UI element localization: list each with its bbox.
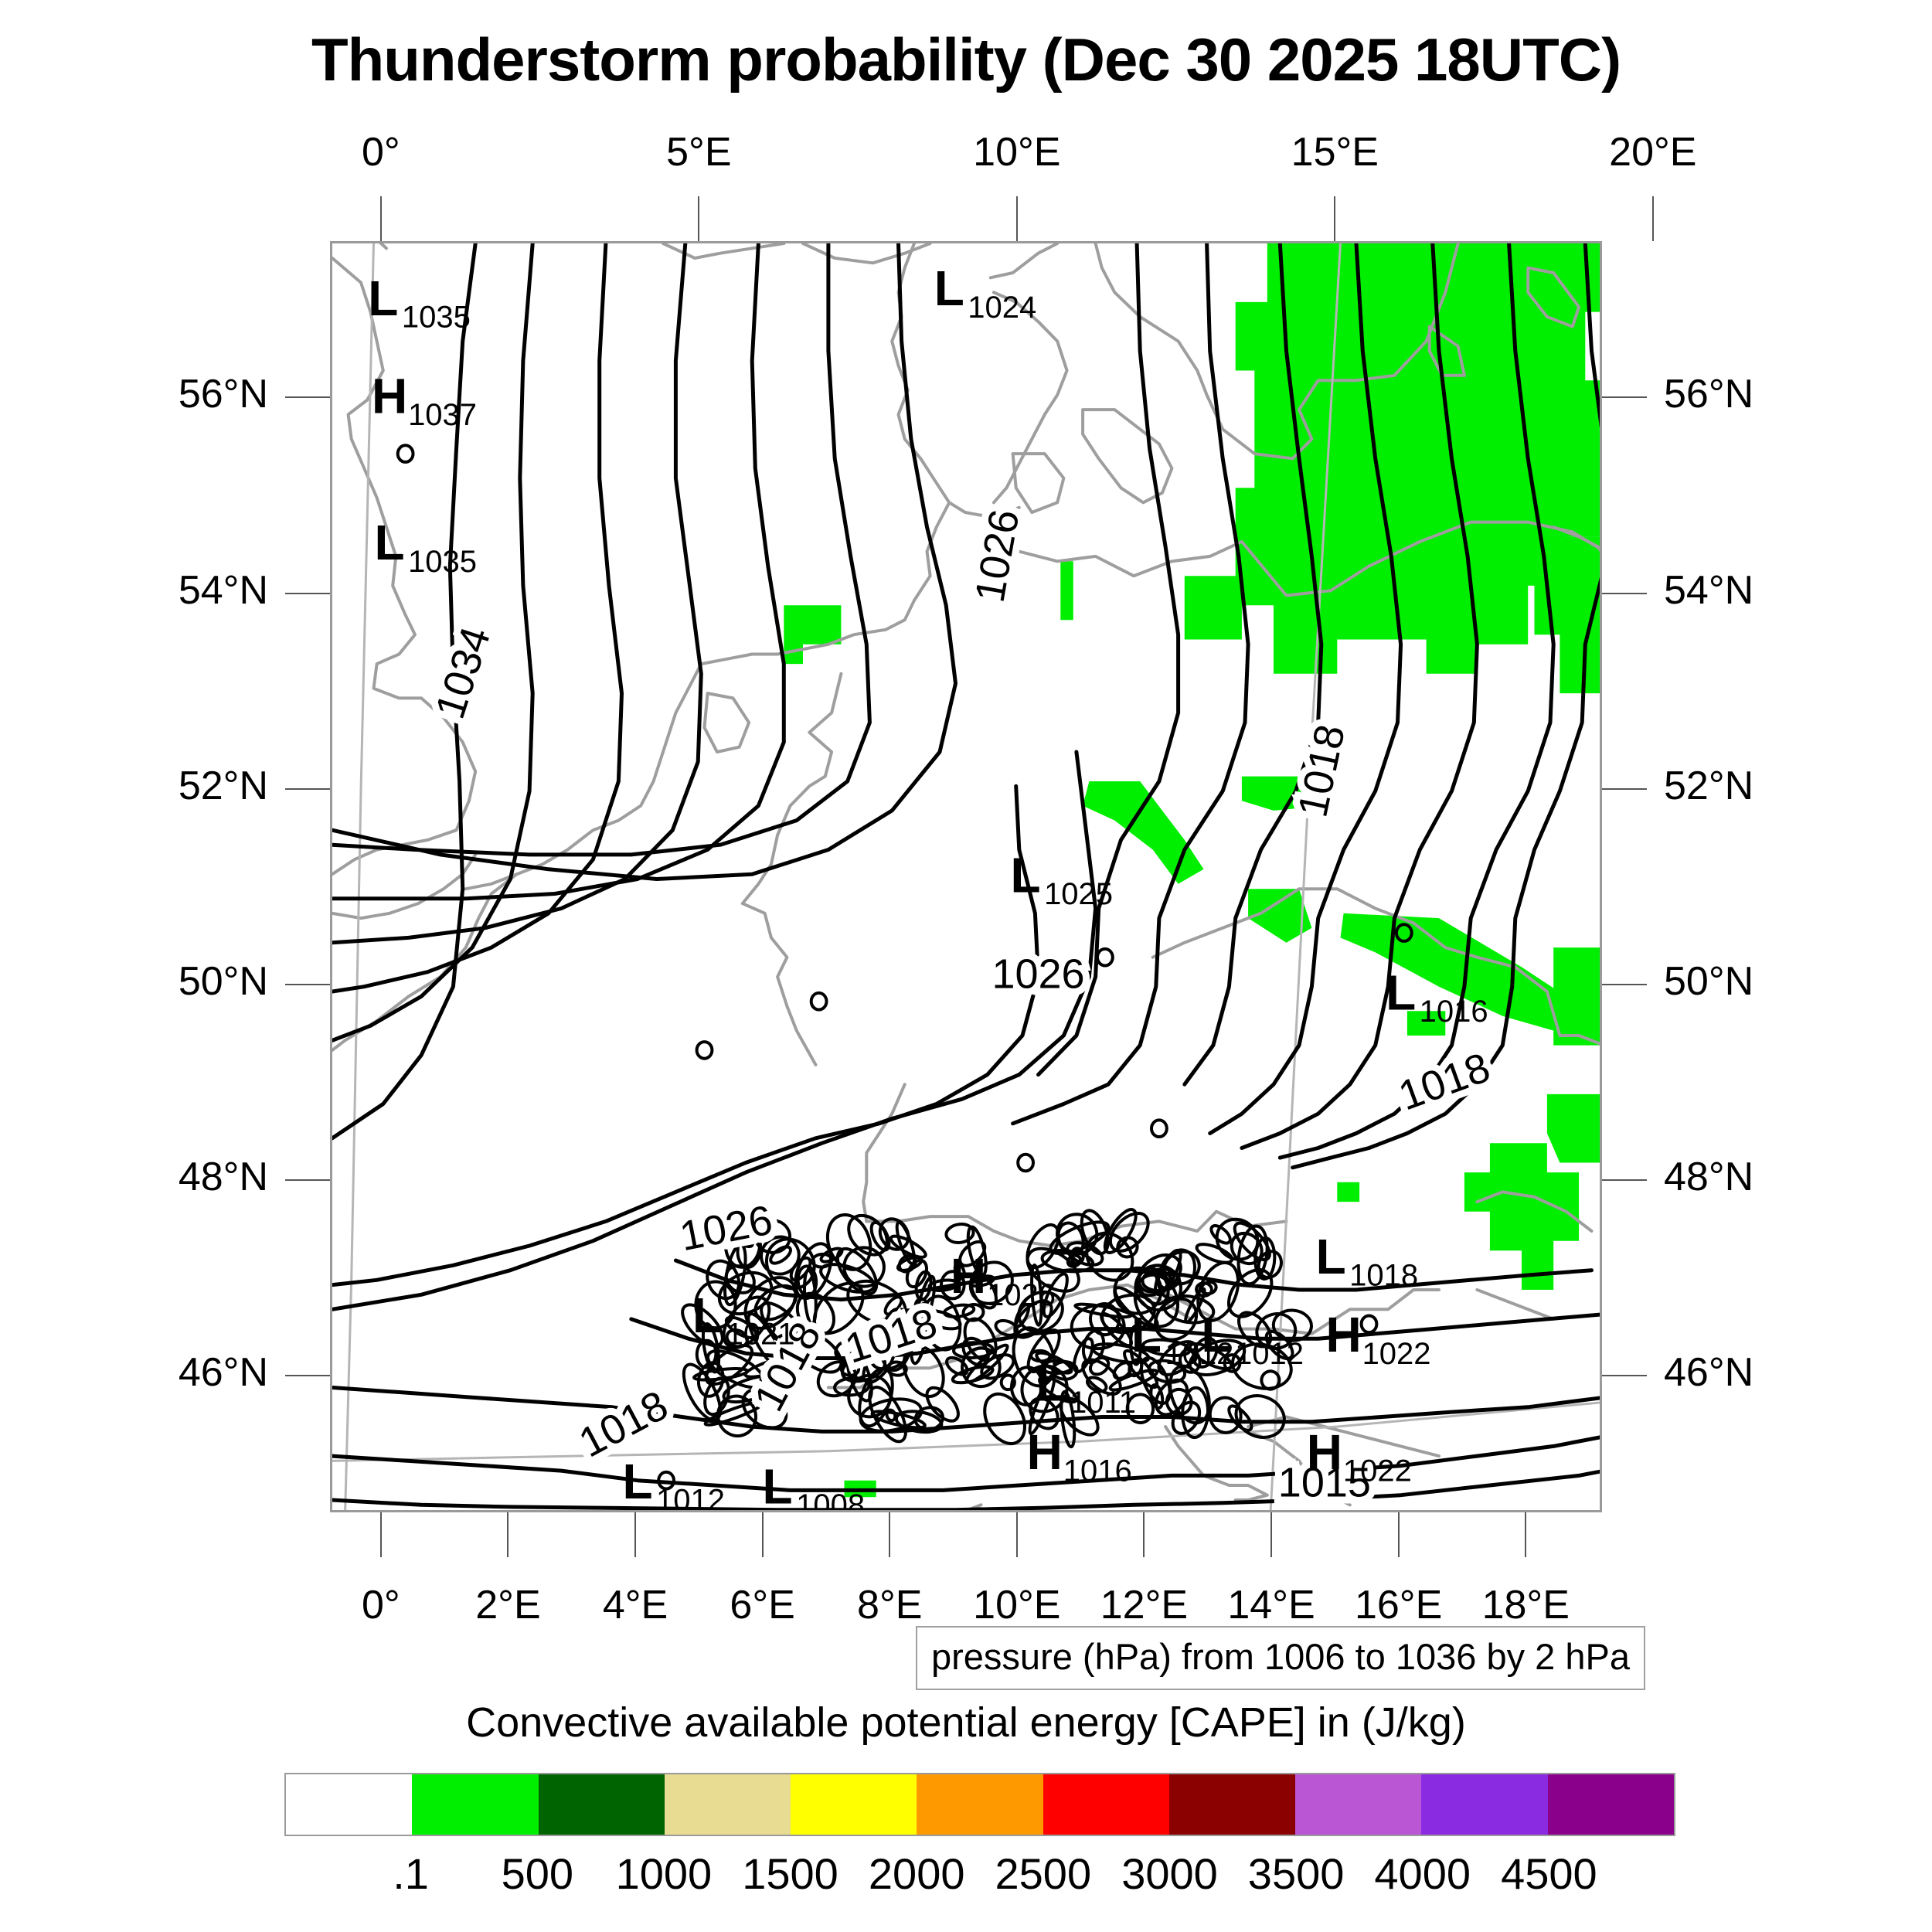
contour-value-label: 1018	[1289, 721, 1354, 821]
pressure-isobar	[332, 243, 784, 899]
pressure-isobar-closed	[1097, 949, 1113, 966]
pressure-low-marker: L	[1386, 964, 1416, 1020]
pressure-low-marker: L	[1201, 1307, 1231, 1362]
top-axis-tick	[380, 196, 382, 241]
bottom-axis-label: 18°E	[1425, 1582, 1626, 1628]
pressure-low-marker: L	[622, 1454, 652, 1509]
pressure-center-value: 1025	[1044, 877, 1113, 911]
coastline	[863, 1084, 905, 1221]
cape-patch	[1337, 1182, 1359, 1202]
colorbar-segment	[1295, 1774, 1421, 1835]
bottom-axis-tick	[889, 1512, 890, 1557]
pressure-high-marker: H	[951, 1248, 986, 1304]
bottom-axis-tick	[1398, 1512, 1400, 1557]
pressure-center-value: 1022	[1343, 1454, 1412, 1488]
top-axis-label: 5°E	[598, 129, 799, 175]
cape-patch	[1547, 1094, 1602, 1163]
colorbar-segment	[791, 1774, 917, 1835]
colorbar-segment	[917, 1774, 1043, 1835]
bottom-axis-tick	[380, 1512, 382, 1557]
left-axis-label: 46°N	[0, 1349, 268, 1396]
pressure-isobar-closed	[1230, 1389, 1291, 1444]
pressure-low-marker: L	[934, 260, 964, 316]
colorbar-segment	[1169, 1774, 1295, 1835]
pressure-isobar-closed	[1018, 1155, 1033, 1172]
left-axis-label: 56°N	[0, 371, 268, 417]
cape-patch	[784, 605, 841, 664]
pressure-isobar-closed	[886, 1409, 896, 1422]
colorbar-tick-label: 1500	[742, 1849, 838, 1899]
pressure-low-marker: L	[368, 270, 398, 326]
pressure-center-value: 1012	[1235, 1337, 1304, 1371]
coastline	[705, 693, 750, 752]
pressure-center-value: 1016	[1063, 1454, 1132, 1488]
cape-colorbar-labels: .150010001500200025003000350040004500	[284, 1849, 1675, 1903]
contour-value-label: 1026	[967, 506, 1029, 606]
pressure-isobar-closed	[945, 1223, 975, 1244]
bottom-axis-tick	[634, 1512, 636, 1557]
colorbar-tick-label: 1000	[616, 1849, 713, 1899]
colorbar-segment	[1043, 1774, 1169, 1835]
pressure-center-value: 1008	[796, 1488, 865, 1512]
pressure-isobar-closed	[697, 1042, 713, 1059]
colorbar-segment	[1421, 1774, 1547, 1835]
left-axis-label: 54°N	[0, 567, 268, 614]
right-axis-tick	[1602, 1179, 1647, 1181]
top-axis-label: 10°E	[917, 129, 1117, 175]
graticule-line	[332, 1403, 1602, 1461]
colorbar-tick-label: 3000	[1121, 1849, 1218, 1899]
pressure-isobar-closed	[1151, 1120, 1167, 1137]
cape-patch	[1464, 1143, 1579, 1290]
pressure-center-value: 1022	[1362, 1337, 1431, 1371]
cape-colorbar	[284, 1773, 1675, 1836]
coastline	[1083, 410, 1172, 502]
contour-value-label: 1034	[427, 621, 499, 724]
pressure-isobar-closed	[1209, 1223, 1233, 1247]
left-axis-label: 50°N	[0, 958, 268, 1005]
left-axis-tick	[285, 984, 330, 985]
pressure-center-value: 1024	[968, 291, 1036, 325]
top-axis-tick	[1334, 196, 1335, 241]
coastline	[332, 243, 386, 248]
map-canvas: 1034103410261026102610261026102610181018…	[332, 243, 1602, 1512]
left-axis-label: 52°N	[0, 763, 268, 809]
pressure-center-value: 1016	[1420, 995, 1488, 1029]
pressure-low-marker: L	[692, 1287, 723, 1343]
right-axis-label: 48°N	[1664, 1154, 1932, 1200]
pressure-low-marker: L	[1036, 1355, 1066, 1411]
coastline	[663, 243, 784, 258]
pressure-center-value: 1012	[656, 1484, 725, 1512]
pressure-center-value: 1035	[402, 300, 471, 334]
coastline	[991, 243, 1057, 277]
cape-patch	[1553, 947, 1602, 1046]
pressure-high-marker: H	[1027, 1424, 1063, 1480]
colorbar-tick-label: 4500	[1501, 1849, 1597, 1899]
right-axis-label: 50°N	[1664, 958, 1932, 1005]
bottom-axis-tick	[1270, 1512, 1272, 1557]
colorbar-segment	[412, 1774, 538, 1835]
pressure-high-marker: H	[372, 368, 407, 423]
coastline	[1477, 1290, 1553, 1319]
colorbar-tick-label: .1	[393, 1849, 429, 1899]
top-axis-label: 0°	[281, 129, 481, 175]
bottom-axis-tick	[762, 1512, 764, 1557]
right-axis-tick	[1602, 984, 1647, 985]
colorbar-caption: Convective available potential energy [C…	[0, 1699, 1932, 1747]
pressure-center-value: 1018	[1349, 1259, 1418, 1293]
left-axis-tick	[285, 1375, 330, 1376]
right-axis-label: 52°N	[1664, 763, 1932, 809]
colorbar-segment	[539, 1774, 665, 1835]
coastline	[1165, 1427, 1267, 1500]
cape-patch	[1060, 561, 1073, 620]
bottom-axis-tick	[1016, 1512, 1018, 1557]
pressure-isobar	[332, 243, 701, 943]
pressure-isobar-closed	[1362, 1316, 1377, 1333]
left-axis-label: 48°N	[0, 1154, 268, 1200]
page-title: Thunderstorm probability (Dec 30 2025 18…	[0, 25, 1932, 95]
pressure-legend-box: pressure (hPa) from 1006 to 1036 by 2 hP…	[916, 1626, 1645, 1690]
top-axis-tick	[1652, 196, 1654, 241]
right-axis-label: 56°N	[1664, 371, 1932, 417]
left-axis-tick	[285, 593, 330, 594]
pressure-center-value: 1037	[408, 398, 477, 432]
bottom-axis-tick	[507, 1512, 509, 1557]
pressure-center-value: 1026	[987, 1278, 1056, 1312]
pressure-low-marker: L	[1011, 847, 1041, 903]
right-axis-tick	[1602, 396, 1647, 398]
colorbar-segment	[286, 1774, 412, 1835]
bottom-axis-tick	[1143, 1512, 1145, 1557]
right-axis-label: 46°N	[1664, 1349, 1932, 1396]
pressure-isobar	[332, 243, 622, 992]
pressure-center-value: 1011	[1070, 1386, 1136, 1420]
right-axis-tick	[1602, 788, 1647, 790]
pressure-center-value: 1035	[408, 545, 477, 579]
pressure-low-marker: L	[1131, 1307, 1162, 1362]
pressure-center-value: 1021	[726, 1317, 795, 1351]
map-plot-area: 1034103410261026102610261026102610181018…	[330, 241, 1602, 1512]
top-axis-tick	[1016, 196, 1018, 241]
left-axis-tick	[285, 396, 330, 398]
colorbar-segment	[665, 1774, 791, 1835]
colorbar-tick-label: 4000	[1374, 1849, 1471, 1899]
cape-patch	[1083, 781, 1203, 884]
coastline	[332, 855, 475, 918]
top-axis-label: 15°E	[1234, 129, 1435, 175]
colorbar-tick-label: 500	[502, 1849, 573, 1899]
top-axis-tick	[698, 196, 699, 241]
pressure-high-marker: H	[1307, 1424, 1342, 1480]
pressure-low-marker: L	[1316, 1229, 1346, 1284]
cape-patch	[1185, 576, 1242, 639]
pressure-high-marker: H	[1325, 1307, 1361, 1362]
colorbar-tick-label: 2000	[869, 1849, 965, 1899]
left-axis-tick	[285, 788, 330, 790]
colorbar-tick-label: 2500	[995, 1849, 1092, 1899]
pressure-isobar	[332, 243, 532, 1040]
pressure-isobar	[332, 1388, 1602, 1432]
pressure-isobar-closed	[811, 993, 827, 1010]
right-axis-tick	[1602, 1375, 1647, 1376]
top-axis-label: 20°E	[1553, 129, 1753, 175]
right-axis-tick	[1602, 593, 1647, 594]
right-axis-label: 54°N	[1664, 567, 1932, 614]
colorbar-segment	[1548, 1774, 1674, 1835]
pressure-low-marker: L	[763, 1458, 793, 1512]
left-axis-tick	[285, 1179, 330, 1181]
pressure-isobar-closed	[398, 445, 413, 462]
pressure-low-marker: L	[375, 515, 405, 570]
bottom-axis-tick	[1525, 1512, 1526, 1557]
colorbar-tick-label: 3500	[1248, 1849, 1345, 1899]
contour-value-label: 1026	[992, 951, 1084, 997]
